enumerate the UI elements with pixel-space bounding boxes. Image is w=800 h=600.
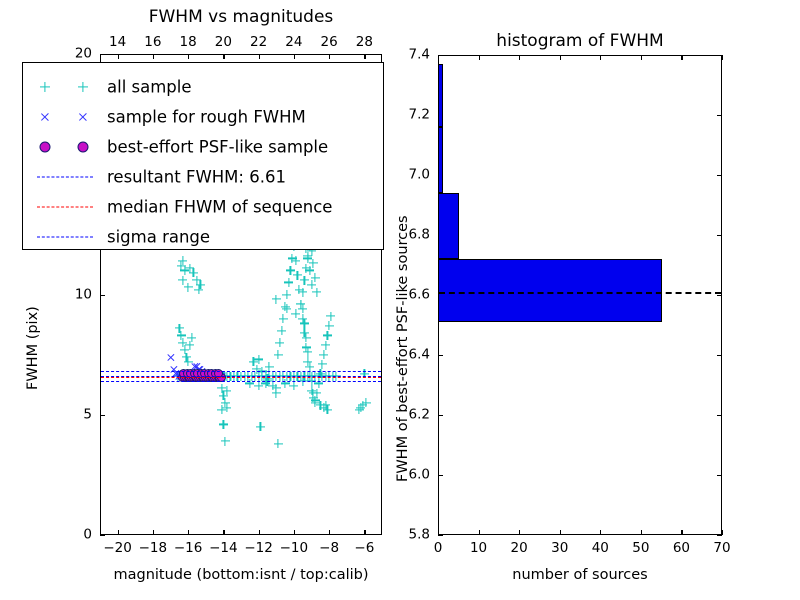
- right-xticklabel: 60: [673, 542, 690, 556]
- right-xticklabel: 70: [713, 542, 730, 556]
- scatter-point-plus: [256, 422, 265, 431]
- right-ytick-right: [717, 535, 722, 536]
- scatter-point-plus: [275, 338, 284, 347]
- right-yticklabel: 7.4: [409, 48, 430, 62]
- right-xticklabel: 0: [434, 542, 443, 556]
- left-xticklabel-bottom: −18: [139, 542, 168, 556]
- left-xticklabel-bottom: −10: [280, 542, 309, 556]
- right-yticklabel: 7.0: [409, 168, 430, 182]
- scatter-point-plus: [282, 304, 291, 313]
- legend-item-label: all sample: [107, 78, 192, 97]
- median-fwhm-line: [101, 377, 381, 378]
- right-xticklabel: 10: [470, 542, 487, 556]
- scatter-point-plus: [325, 321, 334, 330]
- histogram-bar: [439, 259, 662, 322]
- left-xticklabel-top: 18: [180, 36, 197, 50]
- scatter-point-cross: [170, 365, 179, 374]
- scatter-point-plus: [291, 309, 300, 318]
- scatter-point-plus: [303, 254, 312, 263]
- scatter-point-plus: [277, 326, 286, 335]
- scatter-point-plus: [355, 405, 364, 414]
- scatter-point-plus: [289, 381, 298, 390]
- scatter-point-plus: [274, 350, 283, 359]
- scatter-point-plus: [321, 401, 330, 410]
- figure-canvas: FWHM vs magnitudesmagnitude (bottom:isnt…: [0, 0, 800, 600]
- legend-item-0[interactable]: all sample: [23, 72, 383, 102]
- legend-item-label: median FHWM of sequence: [107, 198, 332, 217]
- scatter-point-plus: [265, 362, 274, 371]
- scatter-point-plus: [284, 278, 293, 287]
- scatter-point-plus: [323, 331, 332, 340]
- right-yticklabel: 5.8: [409, 528, 430, 542]
- right-yticklabel: 6.2: [409, 408, 430, 422]
- scatter-point-plus: [217, 405, 226, 414]
- scatter-point-plus: [318, 360, 327, 369]
- legend-item-label: sigma range: [107, 228, 210, 247]
- scatter-point-plus: [291, 256, 300, 265]
- legend-item-2[interactable]: best-effort PSF-like sample: [23, 132, 383, 162]
- right-xtick-top: [722, 55, 723, 60]
- legend-item-3[interactable]: resultant FWHM: 6.61: [23, 162, 383, 192]
- left-yticklabel: 10: [75, 288, 92, 302]
- right-xtick: [722, 530, 723, 535]
- sigma-range-lower-line: [101, 381, 381, 382]
- legend-dashed-icon: [37, 177, 93, 178]
- left-plot-xlabel-bottom: magnitude (bottom:isnt / top:calib): [113, 568, 368, 583]
- right-plot-xlabel: number of sources: [512, 568, 648, 583]
- left-xticklabel-top: 20: [215, 36, 232, 50]
- legend-item-label: sample for rough FWHM: [107, 108, 306, 127]
- scatter-point-plus: [279, 314, 288, 323]
- left-xticklabel-top: 14: [109, 36, 126, 50]
- left-plot-ylabel: FWHM (pix): [26, 306, 41, 390]
- scatter-point-plus: [254, 381, 263, 390]
- scatter-point-cross: [166, 353, 175, 362]
- scatter-point-plus: [303, 348, 312, 357]
- scatter-point-plus: [274, 439, 283, 448]
- scatter-point-plus: [302, 333, 311, 342]
- scatter-point-plus: [300, 319, 309, 328]
- histogram-bar: [439, 193, 459, 259]
- histogram-bar: [439, 127, 443, 193]
- scatter-point-plus: [272, 295, 281, 304]
- legend-plus-icon: [78, 82, 88, 92]
- scatter-point-plus: [222, 386, 231, 395]
- left-xticklabel-top: 26: [321, 36, 338, 50]
- right-xticklabel: 40: [592, 542, 609, 556]
- left-xticklabel-bottom: −6: [354, 542, 374, 556]
- left-xticklabel-top: 22: [250, 36, 267, 50]
- legend-cross-icon: [78, 112, 88, 122]
- right-yticklabel: 6.0: [409, 468, 430, 482]
- scatter-point-plus: [298, 288, 307, 297]
- scatter-point-plus: [319, 350, 328, 359]
- scatter-point-plus: [254, 355, 263, 364]
- left-xticklabel-bottom: −16: [174, 542, 203, 556]
- right-xticklabel: 30: [551, 542, 568, 556]
- left-xticklabel-bottom: −8: [319, 542, 339, 556]
- right-plot-title: histogram of FWHM: [496, 33, 663, 50]
- scatter-point-plus: [326, 312, 335, 321]
- sigma-range-upper-line: [101, 371, 381, 372]
- scatter-point-plus: [272, 384, 281, 393]
- histogram-bar: [439, 64, 443, 127]
- right-ytick: [438, 535, 443, 536]
- left-xticklabel-bottom: −20: [103, 542, 132, 556]
- scatter-point-plus: [187, 333, 196, 342]
- scatter-point-plus: [221, 437, 230, 446]
- legend-item-4[interactable]: median FHWM of sequence: [23, 192, 383, 222]
- right-xticklabel: 50: [632, 542, 649, 556]
- legend-dashdot-icon: [37, 237, 93, 238]
- left-ytick: [100, 535, 105, 536]
- left-yticklabel: 5: [83, 408, 92, 422]
- legend-item-label: best-effort PSF-like sample: [107, 138, 328, 157]
- legend-item-1[interactable]: sample for rough FWHM: [23, 102, 383, 132]
- scatter-point-plus: [305, 362, 314, 371]
- left-xticklabel-bottom: −14: [209, 542, 238, 556]
- left-xticklabel-bottom: −12: [244, 542, 273, 556]
- left-xticklabel-top: 24: [285, 36, 302, 50]
- right-yticklabel: 6.8: [409, 228, 430, 242]
- left-xticklabel-top: 28: [356, 36, 373, 50]
- scatter-point-plus: [307, 280, 316, 289]
- scatter-point-plus: [282, 290, 291, 299]
- legend-plus-icon: [40, 82, 50, 92]
- left-yticklabel: 0: [83, 528, 92, 542]
- right-yticklabel: 7.2: [409, 108, 430, 122]
- legend-item-label: resultant FWHM: 6.61: [107, 168, 286, 187]
- legend-box: all samplesample for rough FWHMbest-effo…: [22, 62, 384, 250]
- left-yticklabel: 20: [75, 47, 92, 61]
- legend-dashed-icon: [37, 207, 93, 208]
- right-xticklabel: 20: [511, 542, 528, 556]
- right-plot-data-area: [439, 56, 721, 534]
- scatter-point-plus: [305, 266, 314, 275]
- legend-item-5[interactable]: sigma range: [23, 222, 383, 252]
- scatter-point-plus: [184, 283, 193, 292]
- scatter-point-plus: [321, 341, 330, 350]
- scatter-point-plus: [196, 280, 205, 289]
- right-yticklabel: 6.4: [409, 348, 430, 362]
- legend-circle-icon: [40, 142, 51, 153]
- legend-cross-icon: [40, 112, 50, 122]
- scatter-point-plus: [219, 420, 228, 429]
- legend-circle-icon: [78, 142, 89, 153]
- right-yticklabel: 6.6: [409, 288, 430, 302]
- histogram-median-line: [439, 292, 721, 294]
- left-plot-title: FWHM vs magnitudes: [149, 9, 334, 26]
- left-xticklabel-top: 16: [144, 36, 161, 50]
